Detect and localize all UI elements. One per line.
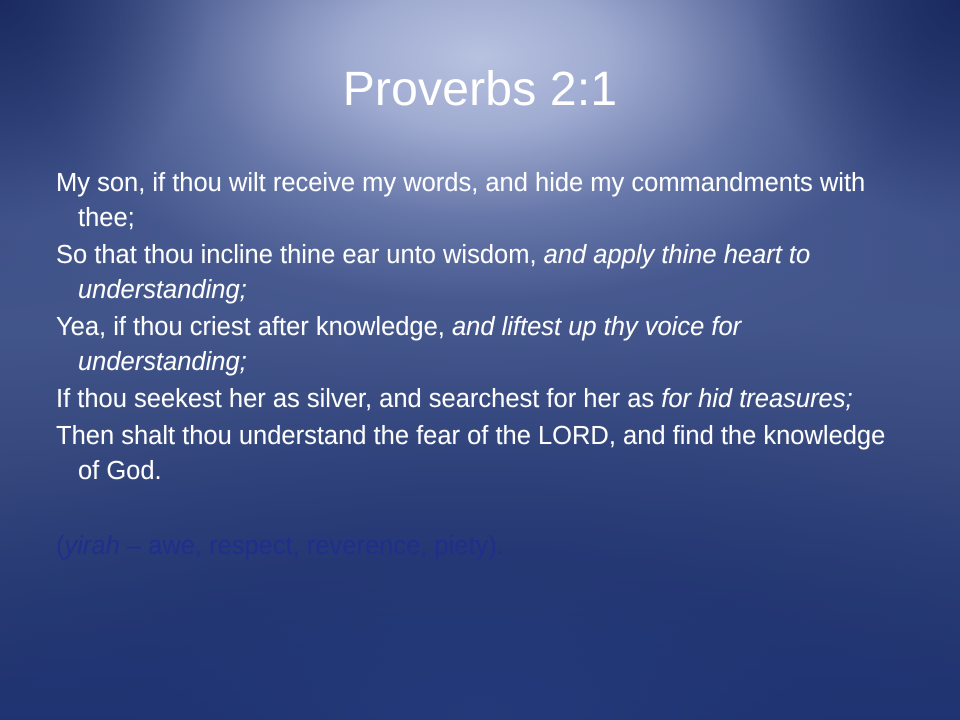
page-title: Proverbs 2:1 [0,62,960,118]
slide-canvas: Proverbs 2:1 My son, if thou wilt receiv… [0,0,960,720]
verse-text-italic: for hid treasures; [661,385,852,413]
gloss-definition: – awe, respect, reverence, piety). [120,532,504,560]
verse-line: My son, if thou wilt receive my words, a… [56,166,908,236]
verse-line: So that thou incline thine ear unto wisd… [56,238,908,308]
verse-text-plain: Then shalt thou understand the fear of t… [56,422,885,485]
blank-line-spacer [56,491,908,529]
hebrew-gloss-line: (yirah – awe, respect, reverence, piety)… [56,529,908,564]
verse-line: Yea, if thou criest after knowledge, and… [56,310,908,380]
verse-text-plain: Yea, if thou criest after knowledge, [56,313,452,341]
verse-body: My son, if thou wilt receive my words, a… [56,166,908,564]
verse-text-plain: My son, if thou wilt receive my words, a… [56,169,865,232]
gloss-term: yirah [65,532,120,560]
verse-line: Then shalt thou understand the fear of t… [56,419,908,489]
gloss-open-paren: ( [56,532,65,560]
verse-line: If thou seekest her as silver, and searc… [56,382,908,417]
verse-text-plain: So that thou incline thine ear unto wisd… [56,241,544,269]
verse-text-plain: If thou seekest her as silver, and searc… [56,385,661,413]
